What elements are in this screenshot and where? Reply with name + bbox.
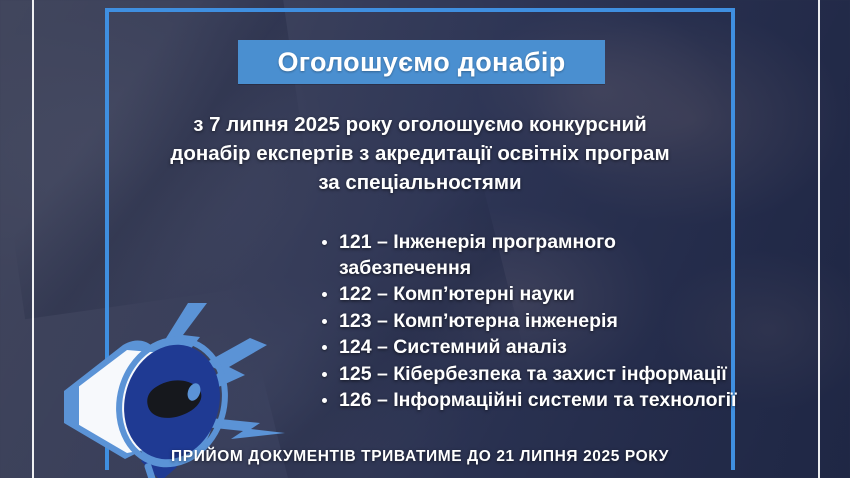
list-item: 125 – Кібербезпека та захист інформації <box>322 362 742 388</box>
footer-note: ПРИЙОМ ДОКУМЕНТІВ ТРИВАТИМЕ ДО 21 ЛИПНЯ … <box>105 448 735 466</box>
list-item: 122 – Комп’ютерні науки <box>322 282 742 308</box>
poster-canvas: Оголошуємо донабір з 7 липня 2025 року о… <box>0 0 850 478</box>
vertical-rule-left <box>32 0 34 478</box>
list-item: 121 – Інженерія програмного забезпечення <box>322 230 742 281</box>
lead-line-2: донабір експертів з акредитації освітніх… <box>120 139 720 168</box>
vertical-rule-right <box>818 0 820 478</box>
specialty-list: 121 – Інженерія програмного забезпечення… <box>322 230 742 415</box>
lead-line-3: за спеціальностями <box>120 168 720 197</box>
lead-paragraph: з 7 липня 2025 року оголошуємо конкурсни… <box>120 110 720 197</box>
lead-line-1: з 7 липня 2025 року оголошуємо конкурсни… <box>120 110 720 139</box>
list-item: 123 – Комп’ютерна інженерія <box>322 309 742 335</box>
page-title: Оголошуємо донабір <box>277 47 565 78</box>
list-item: 124 – Системний аналіз <box>322 335 742 361</box>
list-item: 126 – Інформаційні системи та технології <box>322 388 742 414</box>
title-banner: Оголошуємо донабір <box>238 40 605 84</box>
